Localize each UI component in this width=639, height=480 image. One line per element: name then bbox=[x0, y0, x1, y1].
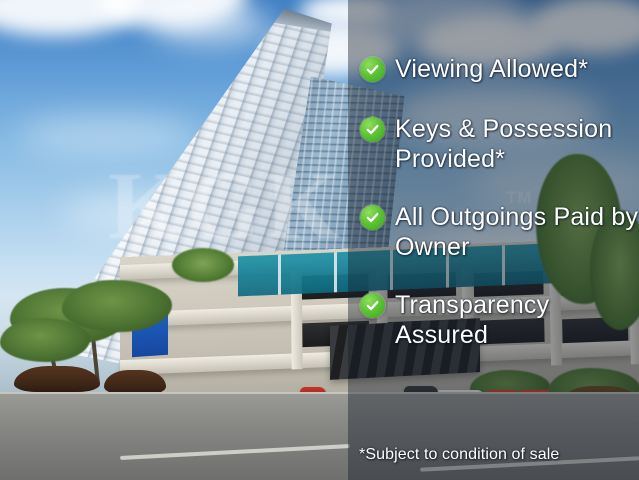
shrub-bed bbox=[14, 366, 100, 392]
feature-item-keys-possession: Keys & Possession Provided* bbox=[360, 114, 639, 174]
check-circle-icon bbox=[360, 57, 385, 82]
check-circle-icon bbox=[360, 205, 385, 230]
feature-item-transparency-assured: Transparency Assured bbox=[360, 290, 639, 350]
palm-foliage bbox=[172, 248, 234, 282]
feature-label: All Outgoings Paid by Owner bbox=[395, 202, 639, 262]
cloud bbox=[18, 116, 198, 154]
property-promo-banner: KGK TM Viewing Allowed* Keys & Possessio… bbox=[0, 0, 639, 480]
feature-list: Viewing Allowed* Keys & Possession Provi… bbox=[360, 54, 639, 367]
footnote-text: *Subject to condition of sale bbox=[359, 446, 559, 464]
tree-canopy bbox=[0, 318, 90, 362]
tree-canopy bbox=[62, 280, 172, 332]
shrub-bed bbox=[104, 370, 166, 394]
cloud bbox=[150, 4, 270, 44]
feature-label: Keys & Possession Provided* bbox=[395, 114, 639, 174]
feature-label: Viewing Allowed* bbox=[395, 54, 588, 84]
check-circle-icon bbox=[360, 293, 385, 318]
feature-item-outgoings-paid: All Outgoings Paid by Owner bbox=[360, 202, 639, 262]
feature-label: Transparency Assured bbox=[395, 290, 639, 350]
glazing-mullion bbox=[334, 252, 337, 292]
check-circle-icon bbox=[360, 117, 385, 142]
glazing-mullion bbox=[278, 255, 281, 295]
feature-item-viewing-allowed: Viewing Allowed* bbox=[360, 54, 639, 84]
